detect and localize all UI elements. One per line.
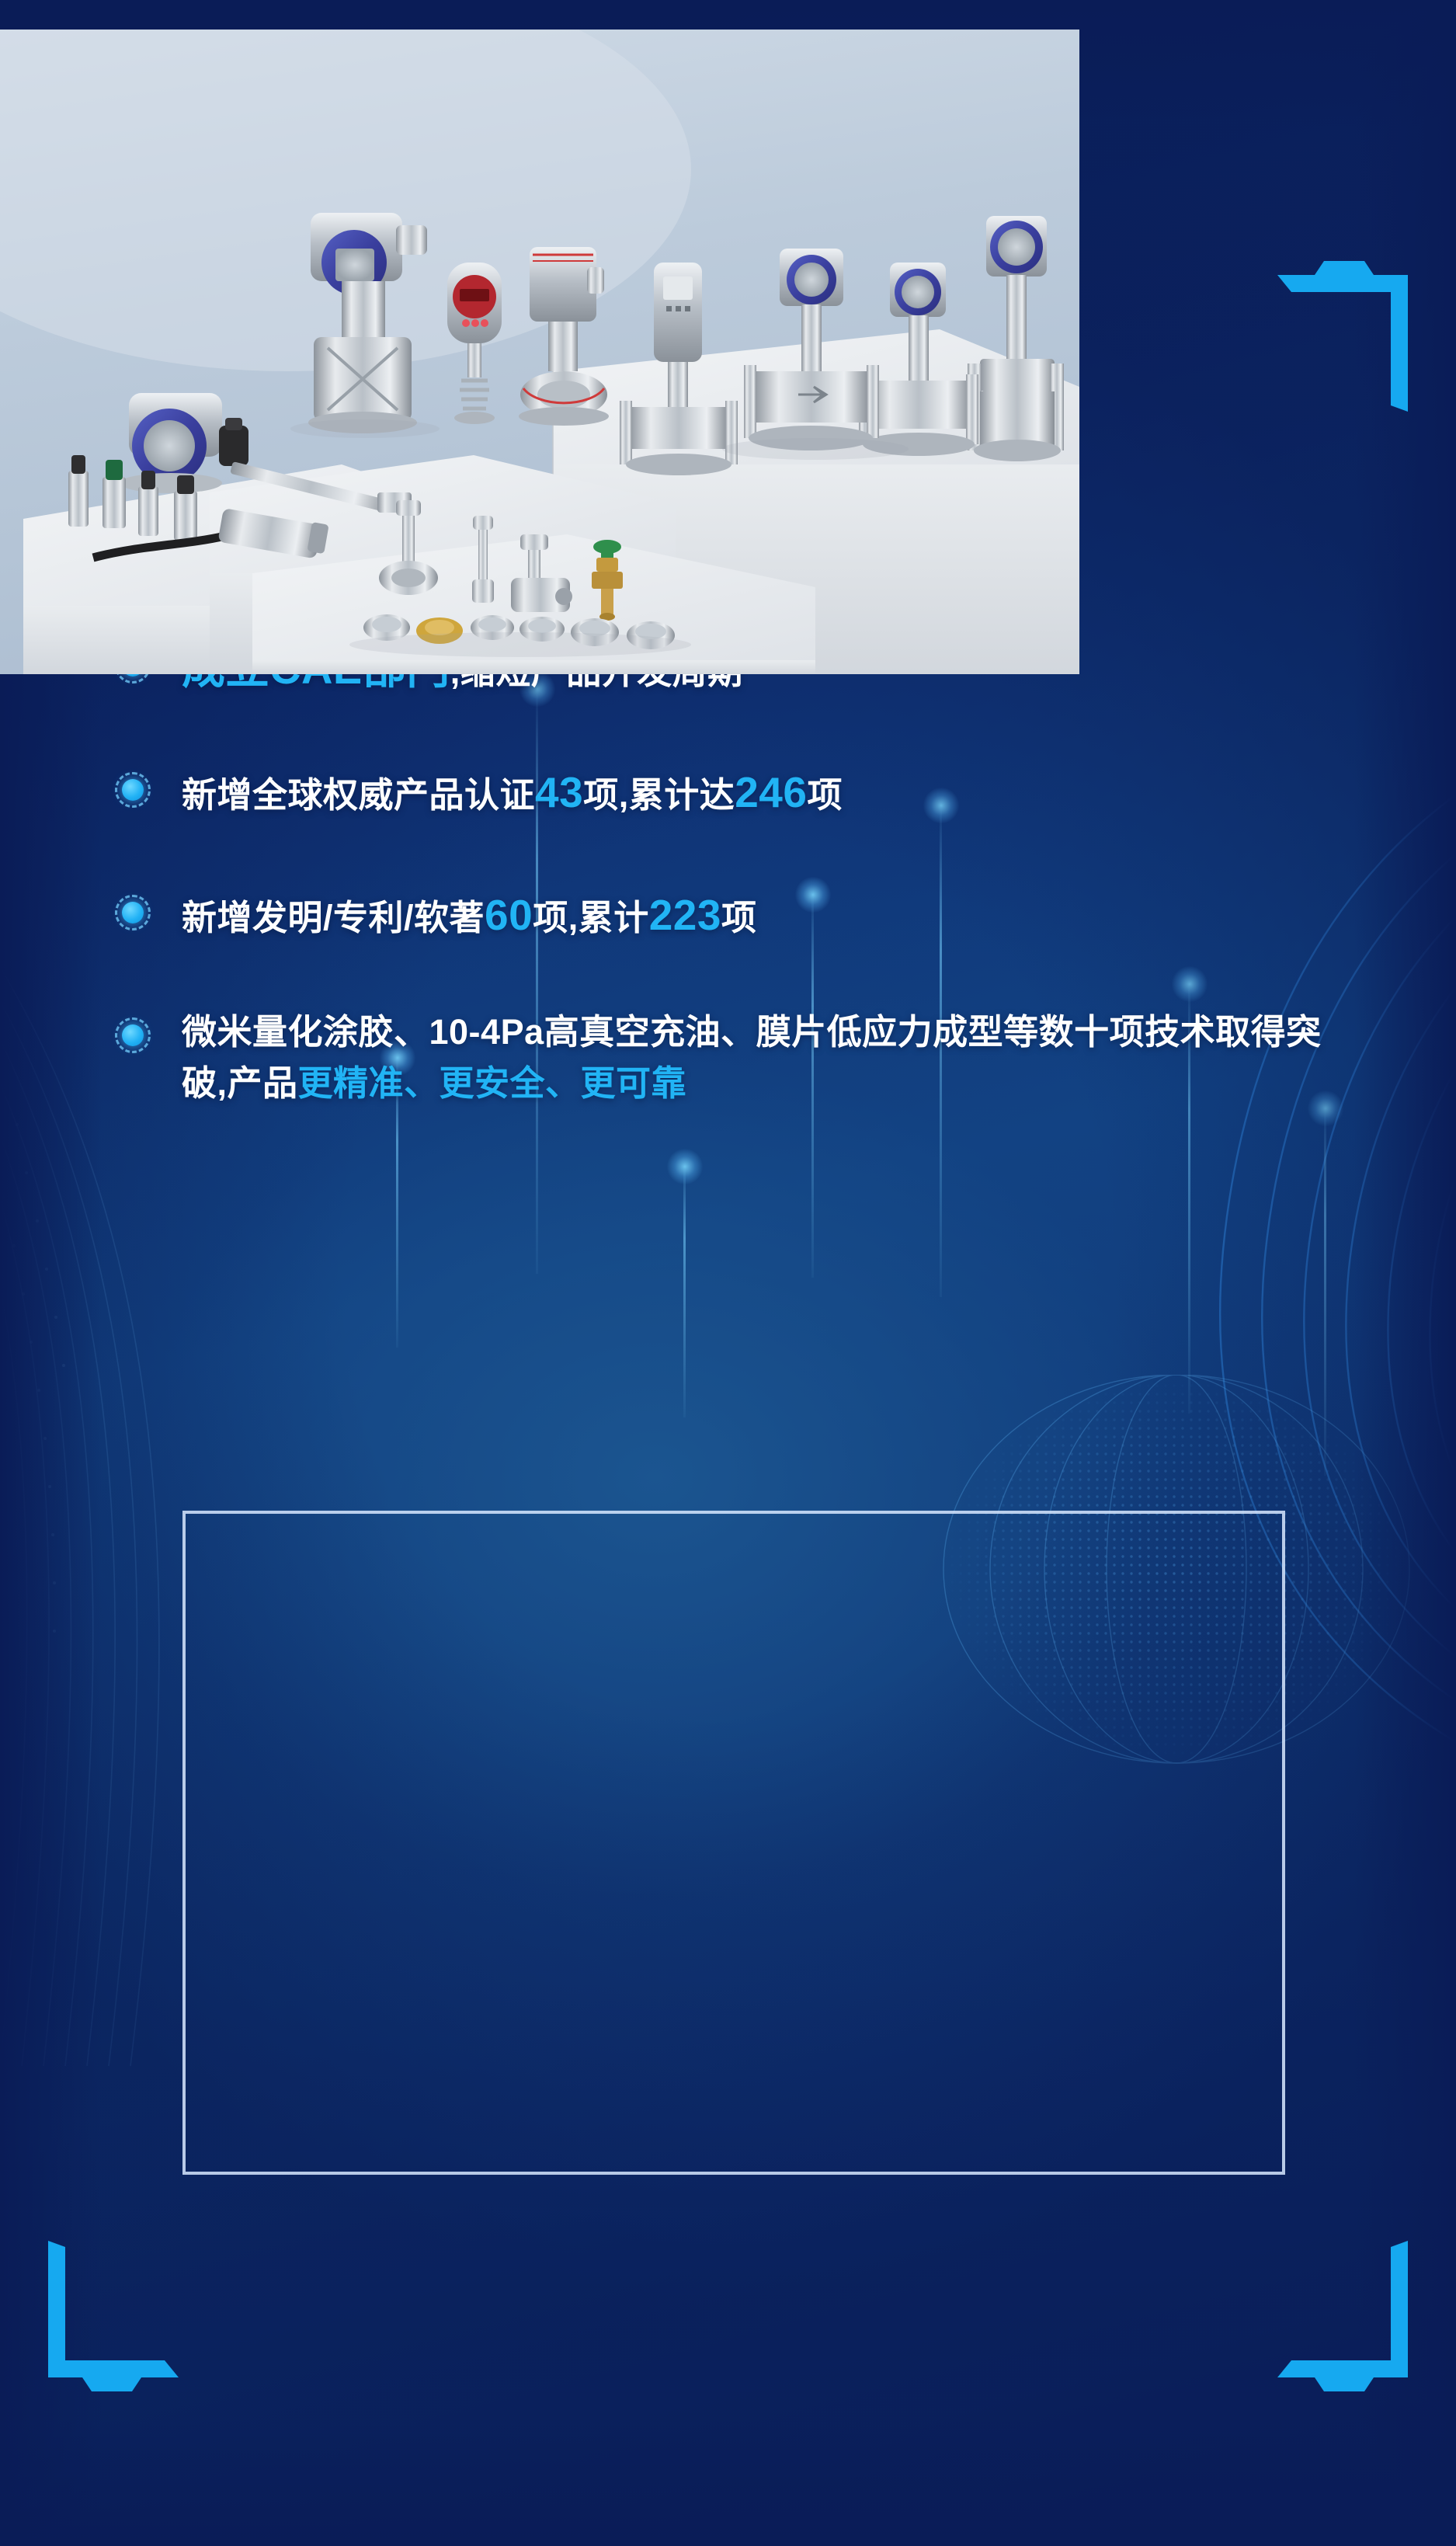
list-item-body: 新增全球权威产品认证 bbox=[182, 775, 535, 815]
bullet-dot-icon bbox=[115, 895, 151, 930]
list-item-number: 43 bbox=[535, 768, 583, 816]
product-photo bbox=[0, 30, 1079, 674]
list-item-body: 项 bbox=[807, 775, 843, 815]
list-item-body: 项,累计 bbox=[533, 898, 649, 937]
bullet-dot-icon bbox=[115, 772, 151, 808]
list-item-number: 223 bbox=[649, 891, 721, 939]
list-item-text: 新增发明/专利/软著60项,累计223项 bbox=[182, 884, 1373, 946]
list-item-number: 246 bbox=[735, 768, 807, 816]
list-item-body: 项 bbox=[721, 898, 757, 937]
list-item-body: 项,累计达 bbox=[583, 775, 735, 815]
product-photo-frame bbox=[182, 1511, 1285, 2175]
list-item-text: 新增全球权威产品认证43项,累计达246项 bbox=[182, 761, 1373, 823]
list-item-number: 60 bbox=[485, 891, 533, 939]
list-item-body: 新增发明/专利/软著 bbox=[182, 898, 485, 937]
list-item: 微米量化涂胶、10-4Pa高真空充油、膜片低应力成型等数十项技术取得突破,产品更… bbox=[115, 1007, 1373, 1108]
poster-root: 扎根 电磁流量计产品完成全国产化,业内第一家 成立CAE部门,缩短产品开发周期 bbox=[0, 0, 1456, 2546]
list-item-text: 微米量化涂胶、10-4Pa高真空充油、膜片低应力成型等数十项技术取得突破,产品更… bbox=[182, 1007, 1331, 1108]
list-item: 新增发明/专利/软著60项,累计223项 bbox=[115, 884, 1373, 946]
bullet-dot-icon bbox=[115, 1017, 151, 1053]
list-item: 新增全球权威产品认证43项,累计达246项 bbox=[115, 761, 1373, 823]
list-item-highlight: 更精准、更安全、更可靠 bbox=[298, 1063, 687, 1103]
